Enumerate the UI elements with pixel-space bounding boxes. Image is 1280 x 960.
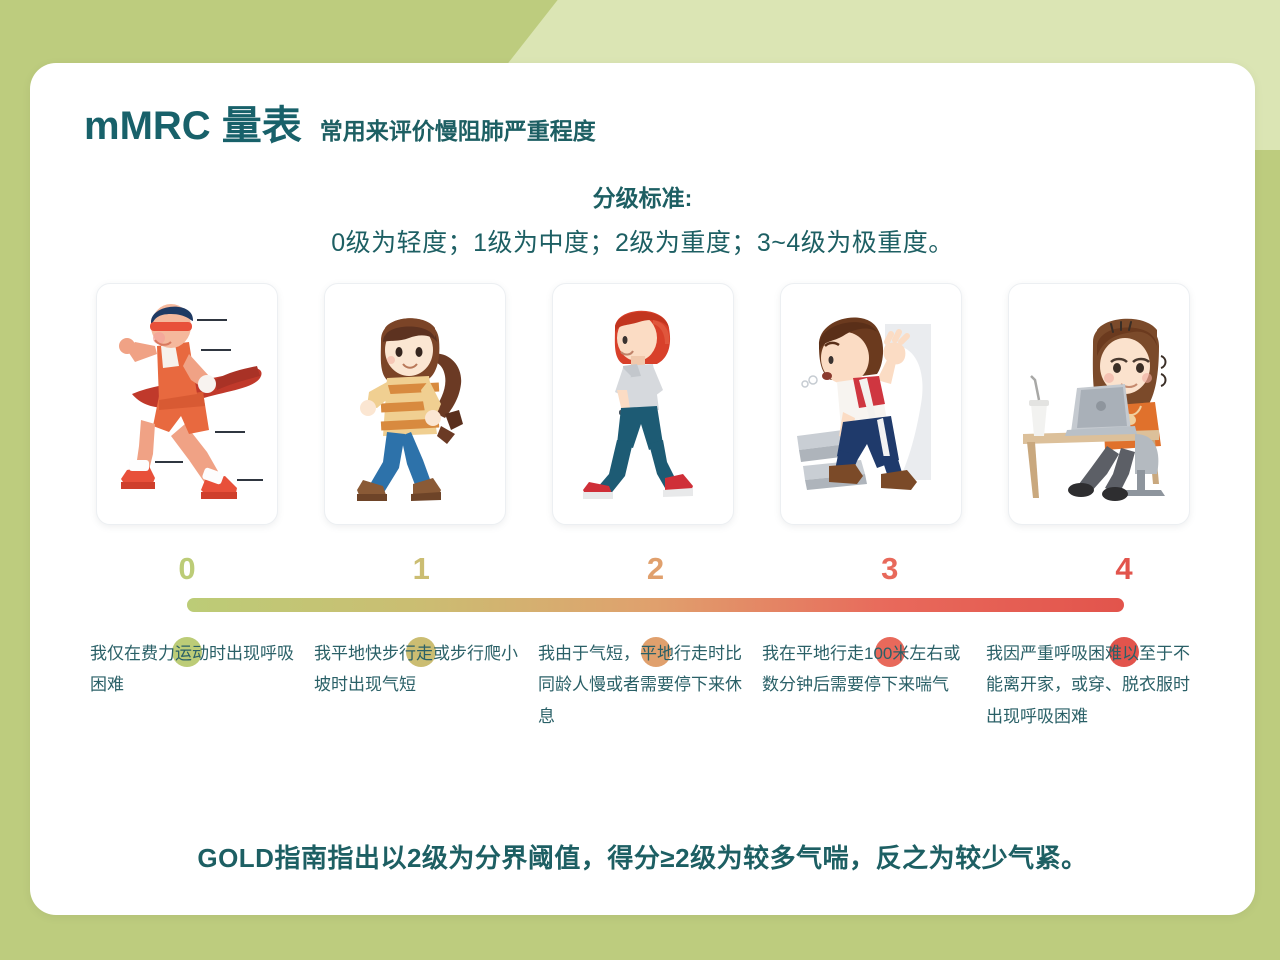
boy-resting-on-stairs-breathless-icon bbox=[781, 284, 961, 524]
running-person-finish-line-icon bbox=[97, 284, 277, 524]
description-level-0: 我仅在费力运动时出现呼吸困难 bbox=[90, 638, 304, 732]
girl-walking-briskly-icon bbox=[325, 284, 505, 524]
criteria-title: 分级标准: bbox=[30, 179, 1255, 213]
scale-number-row: 0 1 2 3 4 bbox=[187, 551, 1124, 591]
description-row: 我仅在费力运动时出现呼吸困难 我平地快步行走或步行爬小坡时出现气短 我由于气短，… bbox=[90, 638, 1200, 732]
scale-number-0: 0 bbox=[178, 551, 195, 587]
scale-number-4: 4 bbox=[1115, 551, 1132, 587]
woman-at-desk-housebound-icon bbox=[1009, 284, 1189, 524]
criteria-block: 分级标准: 0级为轻度；1级为中度；2级为重度；3~4级为极重度。 bbox=[30, 179, 1255, 259]
person-walking-slowly-icon bbox=[553, 284, 733, 524]
severity-scale: 0 1 2 3 4 bbox=[30, 551, 1255, 651]
content-card: mMRC 量表 常用来评价慢阻肺严重程度 分级标准: 0级为轻度；1级为中度；2… bbox=[30, 63, 1255, 915]
page-title: mMRC 量表 bbox=[84, 93, 302, 151]
scale-number-3: 3 bbox=[881, 551, 898, 587]
description-level-3: 我在平地行走100米左右或数分钟后需要停下来喘气 bbox=[762, 638, 976, 732]
gold-guideline-note: GOLD指南指出以2级为分界阈值，得分≥2级为较多气喘，反之为较少气紧。 bbox=[30, 838, 1255, 875]
page-subtitle: 常用来评价慢阻肺严重程度 bbox=[320, 112, 596, 146]
illustration-card-level-0 bbox=[96, 283, 278, 525]
header: mMRC 量表 常用来评价慢阻肺严重程度 bbox=[84, 93, 596, 151]
illustration-card-level-4 bbox=[1008, 283, 1190, 525]
illustration-card-level-1 bbox=[324, 283, 506, 525]
illustration-card-level-2 bbox=[552, 283, 734, 525]
description-level-2: 我由于气短，平地行走时比同龄人慢或者需要停下来休息 bbox=[538, 638, 752, 732]
scale-gradient-bar bbox=[187, 598, 1124, 612]
illustration-card-level-3 bbox=[780, 283, 962, 525]
description-level-1: 我平地快步行走或步行爬小坡时出现气短 bbox=[314, 638, 528, 732]
description-level-4: 我因严重呼吸困难以至于不能离开家，或穿、脱衣服时出现呼吸困难 bbox=[986, 638, 1200, 732]
illustration-row bbox=[96, 283, 1190, 525]
scale-number-2: 2 bbox=[647, 551, 664, 587]
scale-number-1: 1 bbox=[413, 551, 430, 587]
criteria-text: 0级为轻度；1级为中度；2级为重度；3~4级为极重度。 bbox=[30, 223, 1255, 259]
